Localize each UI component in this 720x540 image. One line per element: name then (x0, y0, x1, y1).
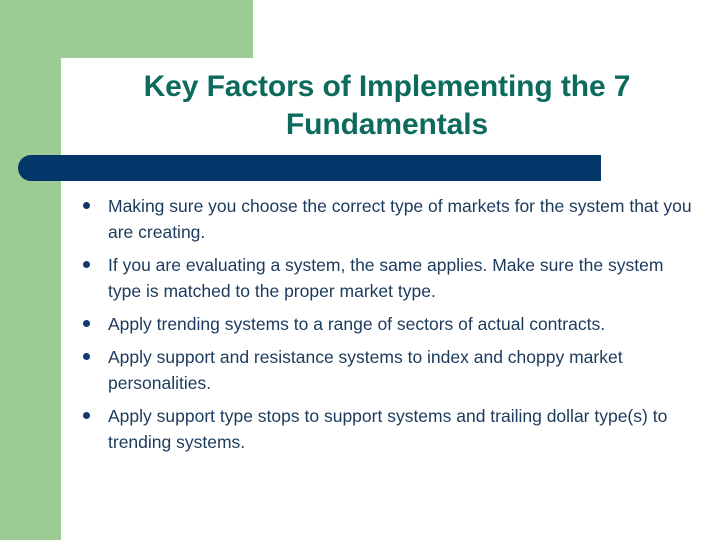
slide-canvas: Key Factors of Implementing the 7 Fundam… (0, 0, 720, 540)
bullet-list: Making sure you choose the correct type … (83, 193, 698, 462)
green-top-block-decoration (0, 0, 253, 58)
list-item-text: Apply support and resistance systems to … (108, 344, 698, 396)
disc-bullet-icon (83, 353, 90, 360)
disc-bullet-icon (83, 261, 90, 268)
disc-bullet-icon (83, 202, 90, 209)
list-item-text: Making sure you choose the correct type … (108, 193, 698, 245)
list-item-text: Apply trending systems to a range of sec… (108, 311, 698, 337)
slide-title: Key Factors of Implementing the 7 Fundam… (61, 68, 713, 144)
list-item: If you are evaluating a system, the same… (83, 252, 698, 304)
disc-bullet-icon (83, 412, 90, 419)
list-item-text: Apply support type stops to support syst… (108, 403, 698, 455)
list-item: Apply support type stops to support syst… (83, 403, 698, 455)
list-item: Apply support and resistance systems to … (83, 344, 698, 396)
list-item: Apply trending systems to a range of sec… (83, 311, 698, 337)
title-accent-bar (18, 155, 601, 181)
list-item-text: If you are evaluating a system, the same… (108, 252, 698, 304)
list-item: Making sure you choose the correct type … (83, 193, 698, 245)
green-left-band-decoration (0, 0, 61, 540)
disc-bullet-icon (83, 320, 90, 327)
